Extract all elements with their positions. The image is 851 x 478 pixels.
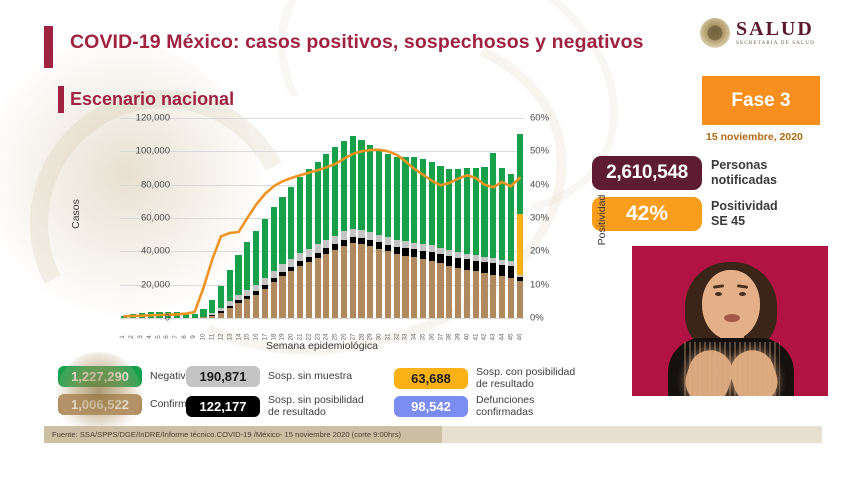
section-subtitle: Escenario nacional bbox=[70, 89, 234, 110]
sign-language-interpreter-video[interactable] bbox=[632, 246, 828, 396]
phase-badge: Fase 3 bbox=[702, 76, 820, 125]
bottom-margin bbox=[0, 450, 851, 478]
stat-value: 42% bbox=[592, 197, 702, 231]
y2-axis-tick: 20% bbox=[530, 246, 590, 257]
subtitle-accent-bar bbox=[58, 86, 64, 113]
page-title: COVID-19 México: casos positivos, sospec… bbox=[70, 31, 644, 54]
legend-label: Sosp. sin muestra bbox=[268, 370, 352, 382]
x-axis-tick: 8 bbox=[181, 335, 188, 339]
legend-label-line1: Sosp. con posibilidad bbox=[476, 366, 575, 378]
legend-value-chip: 122,177 bbox=[186, 396, 260, 417]
y2-axis-tick: 30% bbox=[530, 213, 590, 224]
legend-item: 122,177Sosp. sin posibilidadde resultado bbox=[186, 394, 364, 419]
y-axis-label: Casos bbox=[70, 199, 82, 229]
y2-axis-label: Positividad bbox=[596, 195, 608, 246]
legend-value-chip: 1,227,290 bbox=[58, 366, 142, 387]
phase-label: Fase 3 bbox=[731, 90, 790, 112]
y2-axis-tick: 0% bbox=[530, 313, 590, 324]
x-axis-tick: 3 bbox=[137, 335, 144, 339]
interpreter-face bbox=[702, 270, 760, 340]
logo-subtitle: SECRETARÍA DE SALUD bbox=[736, 41, 815, 46]
stat-label-line2: SE 45 bbox=[711, 214, 778, 229]
y2-axis-tick: 60% bbox=[530, 113, 590, 124]
footer-filler bbox=[434, 426, 822, 443]
legend-label-line2: confirmadas bbox=[476, 406, 534, 418]
interpreter-eye bbox=[715, 292, 722, 296]
legend-label-line2: de resultado bbox=[476, 378, 575, 390]
salud-logo: SALUD SECRETARÍA DE SALUD bbox=[700, 18, 815, 48]
y2-axis-tick: 10% bbox=[530, 279, 590, 290]
y-axis-tick: 80,000 bbox=[90, 179, 170, 190]
title-accent-bar bbox=[44, 26, 53, 68]
legend-value-chip: 98,542 bbox=[394, 396, 468, 417]
slide-canvas: COVID-19 México: casos positivos, sospec… bbox=[0, 0, 851, 478]
legend-label-line1: Sosp. sin posibilidad bbox=[268, 394, 364, 406]
x-axis-tick: 6 bbox=[163, 335, 170, 339]
y-axis-tick: 20,000 bbox=[90, 279, 170, 290]
x-axis-tick: 1 bbox=[119, 335, 126, 339]
phase-date: 15 noviembre, 2020 bbox=[706, 131, 803, 143]
x-axis-tick: 7 bbox=[172, 335, 179, 339]
legend-label: Sosp. sin posibilidadde resultado bbox=[268, 394, 364, 419]
y2-axis-tick: 40% bbox=[530, 179, 590, 190]
stat-personas-notificadas: 2,610,548 Personas notificadas bbox=[592, 156, 777, 190]
legend-item: 98,542Defuncionesconfirmadas bbox=[394, 394, 534, 419]
x-axis-tick: 9 bbox=[189, 335, 196, 339]
positivity-line bbox=[124, 150, 519, 317]
source-text: Fuente: SSA/SPPS/DGE/InDRE/Informe técni… bbox=[52, 430, 401, 439]
legend-label-line2: de resultado bbox=[268, 406, 364, 418]
positivity-line-series bbox=[120, 118, 524, 318]
motion-blur-overlay bbox=[684, 342, 780, 396]
mexico-eagle-icon bbox=[700, 18, 730, 48]
legend-value-chip: 190,871 bbox=[186, 366, 260, 387]
legend-item: 1,227,290Negativos bbox=[58, 366, 197, 387]
legend-item: 63,688Sosp. con posibilidadde resultado bbox=[394, 366, 575, 391]
stat-value: 2,610,548 bbox=[592, 156, 702, 190]
x-axis-tick: 4 bbox=[146, 335, 153, 339]
logo-wordmark: SALUD bbox=[736, 19, 815, 39]
y-axis-tick: 100,000 bbox=[90, 146, 170, 157]
legend-item: 190,871Sosp. sin muestra bbox=[186, 366, 352, 387]
y-axis-tick: 120,000 bbox=[90, 113, 170, 124]
x-axis-tick: 5 bbox=[154, 335, 161, 339]
covid-cases-chart: Casos Positividad 1234567891011121314151… bbox=[78, 118, 578, 333]
x-axis-tick: 2 bbox=[128, 335, 135, 339]
x-axis-ticks: 1234567891011121314151617181920212223242… bbox=[120, 319, 524, 337]
legend-label-line1: Sosp. sin muestra bbox=[268, 370, 352, 382]
y-axis-tick: 60,000 bbox=[90, 213, 170, 224]
source-footer: Fuente: SSA/SPPS/DGE/InDRE/Informe técni… bbox=[44, 426, 442, 443]
stat-positividad: 42% Positividad SE 45 bbox=[592, 197, 778, 231]
legend-value-chip: 63,688 bbox=[394, 368, 468, 389]
interpreter-mouth bbox=[724, 314, 740, 322]
legend-label: Sosp. con posibilidadde resultado bbox=[476, 366, 575, 391]
legend-value-chip: 1,006,522 bbox=[58, 394, 142, 415]
stat-label-line1: Positividad bbox=[711, 199, 778, 214]
interpreter-eye bbox=[739, 292, 746, 296]
legend-label: Defuncionesconfirmadas bbox=[476, 394, 534, 419]
y2-axis-tick: 50% bbox=[530, 146, 590, 157]
stat-label-line2: notificadas bbox=[711, 173, 777, 188]
x-axis-label: Semana epidemiológica bbox=[120, 340, 524, 352]
y-axis-tick: 0 bbox=[90, 313, 170, 324]
stat-label-line1: Personas bbox=[711, 158, 777, 173]
legend-label-line1: Defunciones bbox=[476, 394, 534, 406]
y-axis-tick: 40,000 bbox=[90, 246, 170, 257]
chart-legend: 1,227,290Negativos190,871Sosp. sin muest… bbox=[58, 366, 618, 422]
stat-label: Personas notificadas bbox=[711, 158, 777, 189]
stat-label: Positividad SE 45 bbox=[711, 199, 778, 230]
